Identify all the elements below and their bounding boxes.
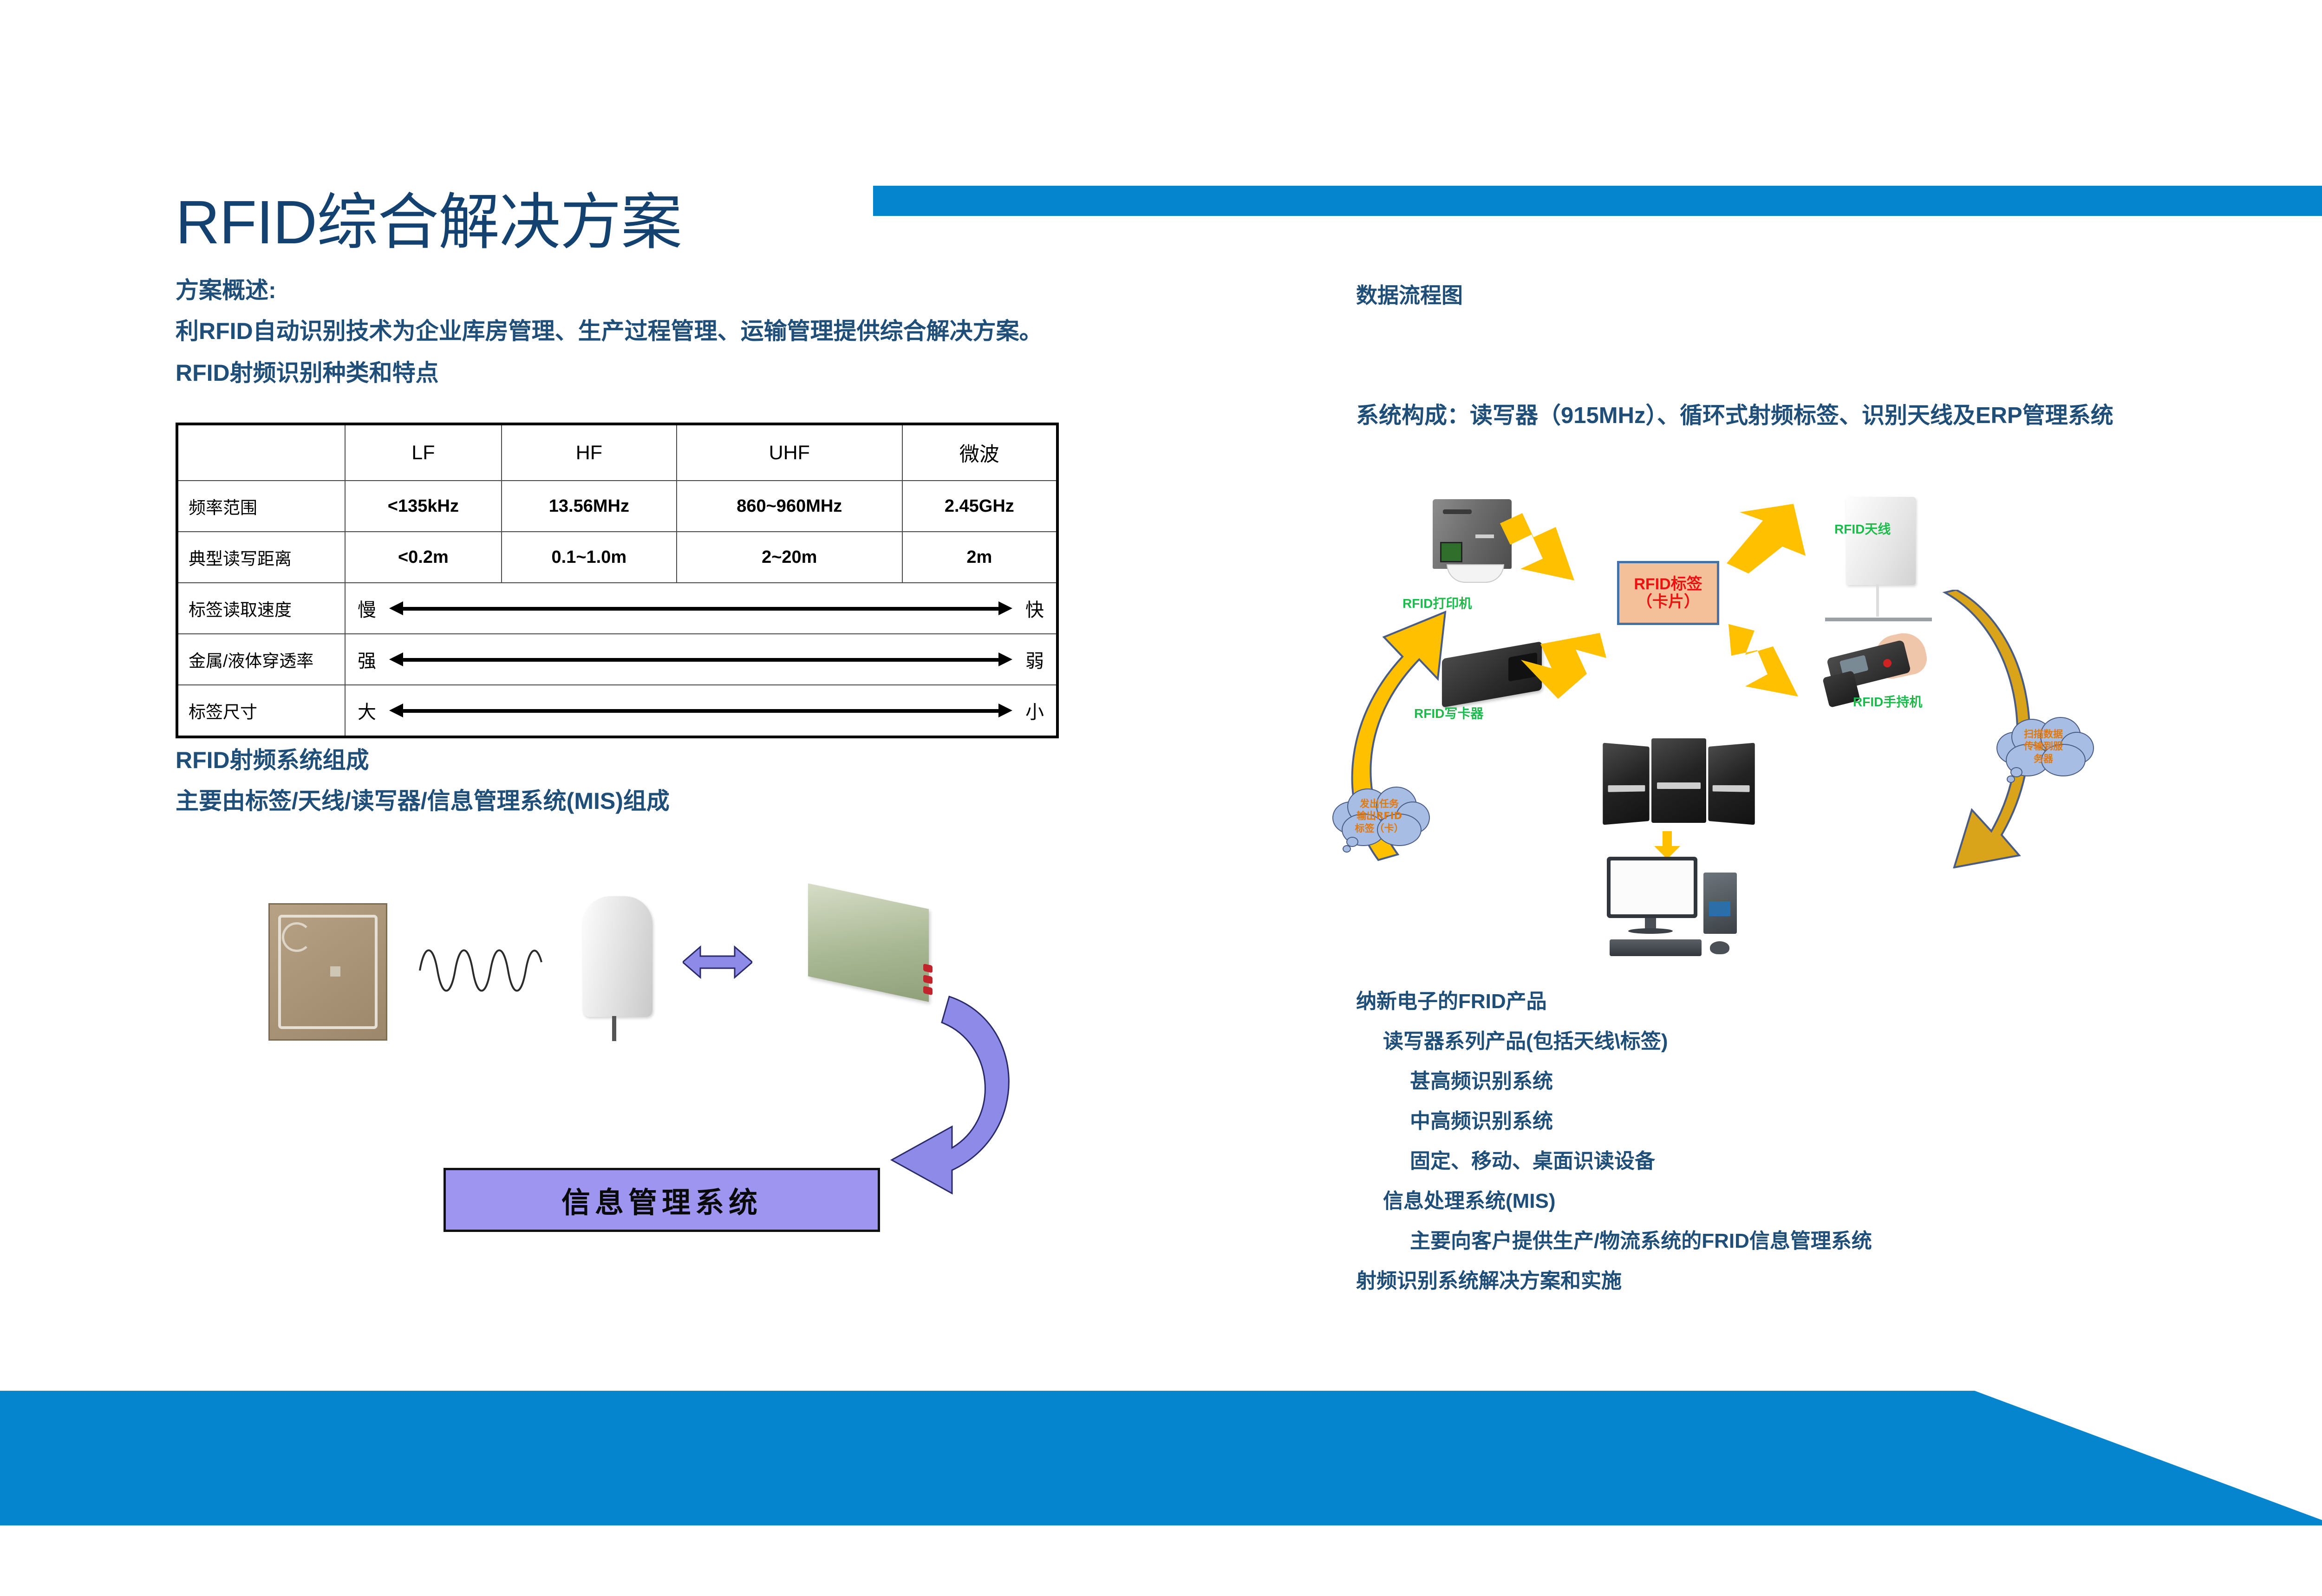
- rfid-antenna-photo: [583, 896, 652, 1017]
- mis-box: 信息管理系统: [444, 1168, 880, 1232]
- cell-dist-hf: 0.1~1.0m: [502, 532, 677, 583]
- cell-dist-mw: 2m: [902, 532, 1057, 583]
- cloud-right-line2: 传输到服: [1990, 740, 2097, 752]
- gradient-left-label: 慢: [358, 595, 376, 622]
- double-arrow-icon: [389, 601, 1012, 615]
- cell-dist-lf: <0.2m: [345, 532, 502, 583]
- gradient-tag-size: 大 小: [345, 685, 1057, 737]
- rfid-comparison-table: LF HF UHF 微波 频率范围 <135kHz 13.56MHz 860~9…: [176, 423, 1059, 738]
- header-accent-bar: [873, 186, 2322, 216]
- radio-wave-icon: [418, 943, 543, 998]
- bullet-item: 固定、移动、桌面识读设备: [1410, 1151, 1872, 1172]
- row-label-penetration: 金属/液体穿透率: [177, 634, 345, 685]
- table-corner-cell: [177, 424, 345, 481]
- row-label-frequency: 频率范围: [177, 481, 345, 532]
- rfid-antenna-photo-right: [1846, 497, 1916, 585]
- arrow-printer-to-tag-icon: [1500, 513, 1607, 587]
- arrow-tag-to-antenna-icon: [1723, 504, 1823, 573]
- mis-box-label: 信息管理系统: [561, 1179, 762, 1221]
- bullet-item: 信息处理系统(MIS): [1383, 1191, 1872, 1212]
- bullet-item: 纳新电子的FRID产品: [1356, 991, 1872, 1012]
- bidirectional-arrow-icon: [683, 945, 752, 979]
- dataflow-diagram-title: 数据流程图: [1356, 279, 1463, 309]
- cell-freq-hf: 13.56MHz: [502, 481, 677, 532]
- cloud-callout-left: 发出任务 输出RFID 标签（卡）: [1326, 785, 1433, 854]
- cell-freq-lf: <135kHz: [345, 481, 502, 532]
- column-header-microwave: 微波: [902, 424, 1057, 481]
- column-header-lf: LF: [345, 424, 502, 481]
- down-arrow-icon: [1653, 831, 1681, 859]
- table-header-row: LF HF UHF 微波: [177, 424, 1057, 481]
- cloud-left-line2: 输出RFID: [1326, 810, 1433, 822]
- overview-heading: 方案概述:: [176, 275, 276, 306]
- gradient-right-label: 快: [1025, 595, 1044, 622]
- table-row: 频率范围 <135kHz 13.56MHz 860~960MHz 2.45GHz: [177, 481, 1057, 532]
- gradient-read-speed: 慢 快: [345, 583, 1057, 634]
- bullet-item: 主要向客户提供生产/物流系统的FRID信息管理系统: [1410, 1231, 1872, 1251]
- bullet-item: 读写器系列产品(包括天线\标签): [1383, 1031, 1872, 1052]
- cell-freq-uhf: 860~960MHz: [677, 481, 902, 532]
- column-header-hf: HF: [502, 424, 677, 481]
- gradient-right-label: 小: [1025, 697, 1044, 724]
- system-composition-line: 系统构成：读写器（915MHz）、循环式射频标签、识别天线及ERP管理系统: [1356, 397, 2113, 430]
- overview-paragraph: 利RFID自动识别技术为企业库房管理、生产过程管理、运输管理提供综合解决方案。: [176, 316, 1043, 347]
- double-arrow-icon: [389, 652, 1012, 666]
- rfid-reader-photo: [808, 883, 929, 1002]
- antenna-cable-right: [1876, 584, 1879, 617]
- row-label-distance: 典型读写距离: [177, 532, 345, 583]
- row-label-tag-size: 标签尺寸: [177, 685, 345, 737]
- table-row: 典型读写距离 <0.2m 0.1~1.0m 2~20m 2m: [177, 532, 1057, 583]
- page-title: RFID综合解决方案: [176, 190, 682, 255]
- gradient-left-label: 强: [358, 646, 376, 673]
- arrow-writer-to-tag-icon: [1507, 629, 1609, 701]
- gradient-penetration: 强 弱: [345, 634, 1057, 685]
- rfid-tag-box: RFID标签 （卡片）: [1617, 561, 1719, 625]
- column-header-uhf: UHF: [677, 424, 902, 481]
- cloud-right-line3: 务器: [1990, 753, 2097, 765]
- row-label-read-speed: 标签读取速度: [177, 583, 345, 634]
- gradient-right-label: 弱: [1025, 646, 1044, 673]
- rfid-tag-photo: [268, 903, 387, 1041]
- cell-freq-mw: 2.45GHz: [902, 481, 1057, 532]
- rfid-tag-box-line2: （卡片）: [1637, 593, 1700, 611]
- cloud-callout-right: 扫描数据 传输到服 务器: [1990, 715, 2097, 785]
- gradient-left-label: 大: [358, 697, 376, 724]
- bullet-item: 射频识别系统解决方案和实施: [1356, 1271, 1872, 1291]
- product-bullet-list: 纳新电子的FRID产品 读写器系列产品(包括天线\标签) 甚高频识别系统 中高频…: [1356, 991, 1872, 1311]
- system-composition-detail: 主要由标签/天线/读写器/信息管理系统(MIS)组成: [176, 786, 670, 817]
- bullet-item: 中高频识别系统: [1410, 1111, 1872, 1132]
- double-arrow-icon: [389, 704, 1012, 717]
- arrow-tag-to-handheld-icon: [1718, 622, 1823, 699]
- table-row: 金属/液体穿透率 强 弱: [177, 634, 1057, 685]
- antenna-cable: [612, 1016, 616, 1041]
- system-composition-heading: RFID射频系统组成: [176, 745, 369, 776]
- cloud-right-line1: 扫描数据: [1990, 728, 2097, 740]
- table-heading: RFID射频识别种类和特点: [176, 358, 439, 389]
- footer-accent-banner: [0, 1391, 2322, 1525]
- cloud-left-line1: 发出任务: [1326, 798, 1433, 810]
- cell-dist-uhf: 2~20m: [677, 532, 902, 583]
- table-row: 标签读取速度 慢 快: [177, 583, 1057, 634]
- table-row: 标签尺寸 大 小: [177, 685, 1057, 737]
- desktop-computer-photo: [1602, 857, 1755, 964]
- cloud-left-line3: 标签（卡）: [1326, 822, 1433, 834]
- rfid-antenna-label: RFID天线: [1834, 519, 1891, 538]
- rfid-tag-box-line1: RFID标签: [1634, 575, 1702, 593]
- bullet-item: 甚高频识别系统: [1410, 1071, 1872, 1092]
- server-rack-photo: [1602, 738, 1755, 824]
